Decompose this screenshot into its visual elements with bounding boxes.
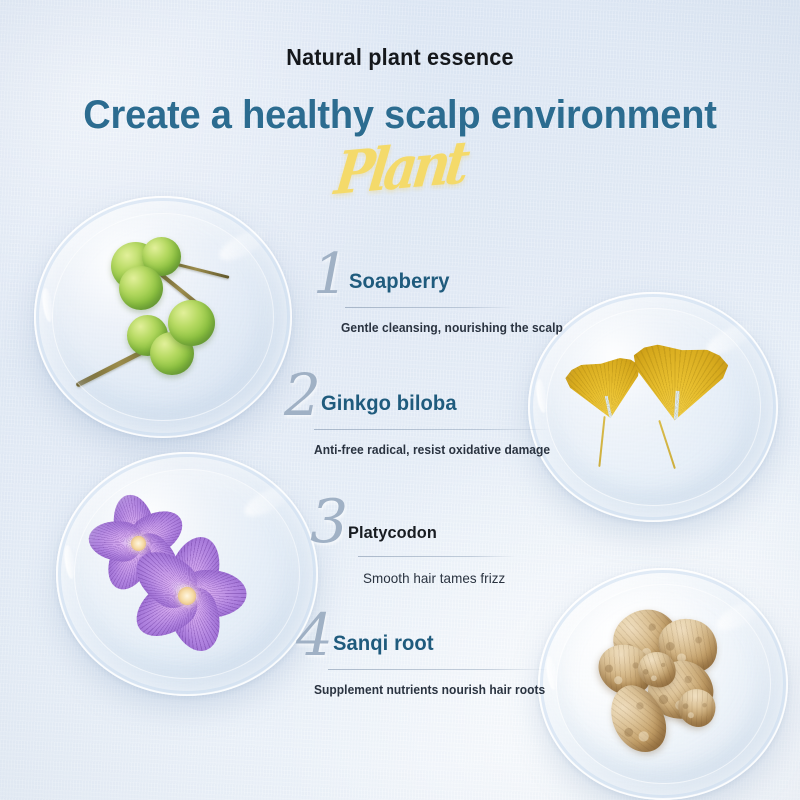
ingredient-description: Anti-free radical, resist oxidative dama… — [314, 443, 550, 457]
divider — [328, 669, 548, 670]
divider — [358, 556, 516, 557]
ingredient-item-ginkgo-biloba: 2 Ginkgo biloba Anti-free radical, resis… — [284, 372, 560, 457]
ingredient-name: Soapberry — [349, 270, 450, 298]
ingredient-head: 3 Platycodon — [310, 498, 516, 547]
ingredient-name: Sanqi root — [333, 632, 434, 660]
ingredient-number: 2 — [284, 372, 321, 420]
divider — [345, 307, 513, 308]
ingredient-number: 3 — [310, 498, 348, 547]
ingredient-description: Gentle cleansing, nourishing the scalp — [341, 321, 563, 335]
ingredient-head: 4 Sanqi root — [296, 612, 555, 660]
ingredient-name: Platycodon — [348, 523, 437, 547]
ingredient-number: 4 — [296, 612, 333, 660]
ingredient-item-sanqi-root: 4 Sanqi root Supplement nutrients nouris… — [296, 612, 555, 697]
ingredient-item-soapberry: 1 Soapberry Gentle cleansing, nourishing… — [313, 252, 572, 335]
ingredient-description: Smooth hair tames frizz — [363, 570, 510, 586]
divider — [314, 429, 549, 430]
product-ingredient-poster: Natural plant essence Create a healthy s… — [0, 0, 800, 800]
ingredient-head: 1 Soapberry — [313, 252, 572, 298]
ingredient-head: 2 Ginkgo biloba — [284, 372, 560, 420]
ingredient-description: Supplement nutrients nourish hair roots — [314, 683, 545, 697]
ingredient-number: 1 — [313, 252, 349, 298]
ingredient-name: Ginkgo biloba — [321, 392, 457, 420]
ingredient-item-platycodon: 3 Platycodon Smooth hair tames frizz — [310, 498, 516, 586]
ingredient-list: 1 Soapberry Gentle cleansing, nourishing… — [0, 0, 800, 800]
